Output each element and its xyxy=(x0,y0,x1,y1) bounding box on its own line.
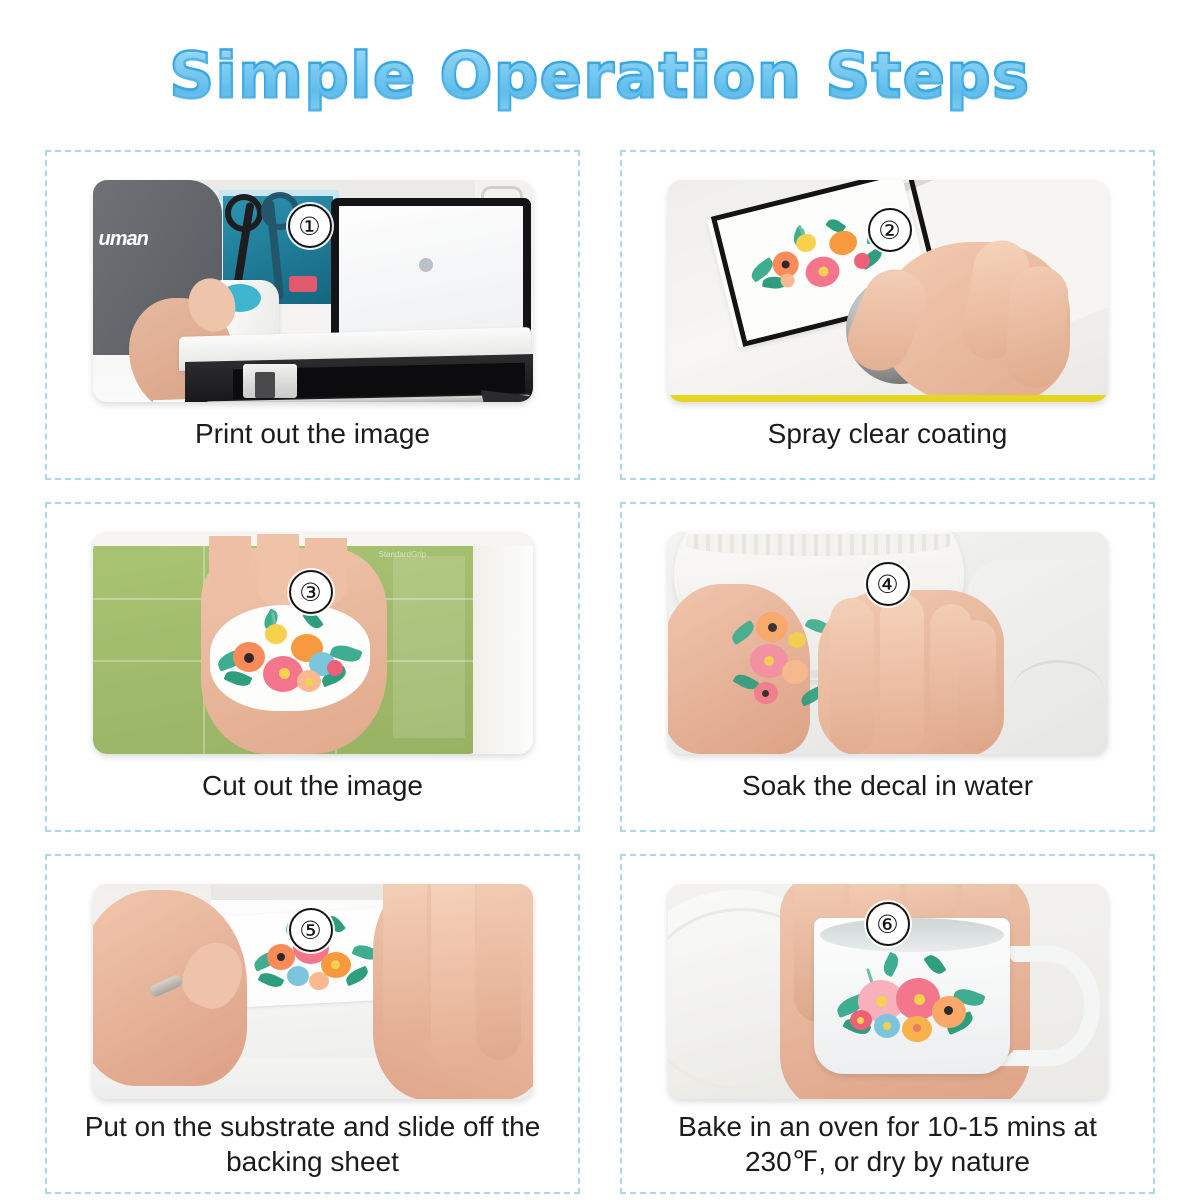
step-caption-4: Soak the decal in water xyxy=(653,768,1123,803)
step-caption-3: Cut out the image xyxy=(78,768,548,803)
step-6-photo: ⑥ xyxy=(668,884,1108,1099)
step-4-photo: ④ xyxy=(668,532,1108,754)
step-caption-6: Bake in an oven for 10-15 mins at 230℉, … xyxy=(653,1109,1123,1179)
step-badge-3: ③ xyxy=(289,570,333,614)
step-caption-1-line1: Print out the image xyxy=(78,416,548,451)
shirt-text-decor: uman xyxy=(99,228,148,251)
step-1-photo: uman ① xyxy=(93,180,533,402)
page-title: Simple Operation Steps xyxy=(169,39,1030,112)
steps-grid: uman ① Print out the image xyxy=(45,150,1155,1194)
step-caption-2: Spray clear coating xyxy=(653,416,1123,451)
step-3-photo: StandardGrip xyxy=(93,532,533,754)
step-caption-4-line1: Soak the decal in water xyxy=(653,768,1123,803)
step-card-1: uman ① Print out the image xyxy=(45,150,580,480)
step-badge-6: ⑥ xyxy=(866,902,910,946)
step-caption-5-line2: backing sheet xyxy=(78,1144,548,1179)
floral-decal-art xyxy=(836,958,986,1050)
step-caption-2-line1: Spray clear coating xyxy=(653,416,1123,451)
step-caption-5: Put on the substrate and slide off the b… xyxy=(78,1109,548,1179)
step-2-photo: ② xyxy=(668,180,1108,402)
step-badge-1: ① xyxy=(288,204,332,248)
step-caption-6-line2: 230℉, or dry by nature xyxy=(653,1144,1123,1179)
step-caption-3-line1: Cut out the image xyxy=(78,768,548,803)
step-badge-5: ⑤ xyxy=(289,908,333,952)
floral-decal-art xyxy=(217,612,363,704)
step-5-photo: ⑤ xyxy=(93,884,533,1099)
mat-label-decor: StandardGrip xyxy=(379,550,427,559)
step-badge-2: ② xyxy=(868,208,912,252)
step-card-2: ② Spray clear coating xyxy=(620,150,1155,480)
step-caption-6-line1: Bake in an oven for 10-15 mins at xyxy=(653,1109,1123,1144)
step-caption-5-line1: Put on the substrate and slide off the xyxy=(78,1109,548,1144)
yellow-strip-decor xyxy=(668,395,1108,402)
mug-handle-decor xyxy=(998,946,1100,1066)
step-card-4: ④ Soak the decal in water xyxy=(620,502,1155,832)
step-card-5: ⑤ Put on the substrate and slide off the… xyxy=(45,854,580,1194)
step-badge-4: ④ xyxy=(866,562,910,606)
step-card-6: ⑥ Bake in an oven for 10-15 mins at 230℉… xyxy=(620,854,1155,1194)
step-caption-1: Print out the image xyxy=(78,416,548,451)
page-header: Simple Operation Steps xyxy=(0,0,1200,150)
step-card-3: StandardGrip xyxy=(45,502,580,832)
